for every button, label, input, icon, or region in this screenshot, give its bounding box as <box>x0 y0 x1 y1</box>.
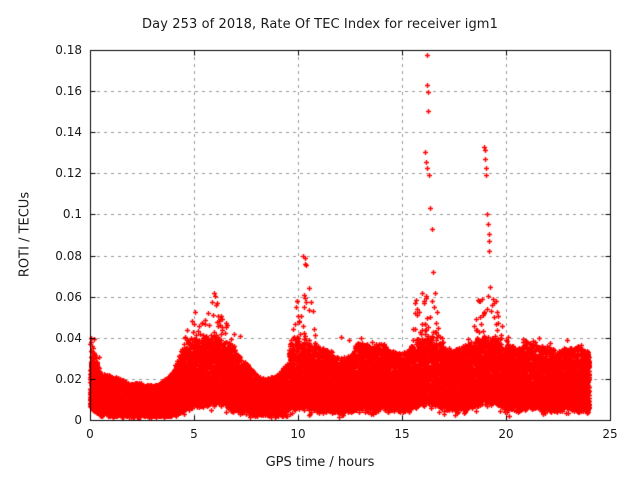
y-tick-label: 0.14 <box>22 125 82 139</box>
y-tick-label: 0.02 <box>22 372 82 386</box>
y-tick-label: 0 <box>22 413 82 427</box>
x-tick-label: 10 <box>278 427 318 441</box>
roti-scatter-figure: Day 253 of 2018, Rate Of TEC Index for r… <box>0 0 640 480</box>
y-tick-label: 0.04 <box>22 331 82 345</box>
x-tick-label: 20 <box>486 427 526 441</box>
x-tick-label: 25 <box>590 427 630 441</box>
y-tick-label: 0.18 <box>22 43 82 57</box>
y-tick-label: 0.16 <box>22 84 82 98</box>
x-tick-label: 15 <box>382 427 422 441</box>
x-tick-label: 5 <box>174 427 214 441</box>
plot-canvas <box>0 0 640 480</box>
x-axis-title: GPS time / hours <box>0 455 640 470</box>
x-tick-label: 0 <box>70 427 110 441</box>
y-axis-title: ROTI / TECUs <box>18 155 33 315</box>
